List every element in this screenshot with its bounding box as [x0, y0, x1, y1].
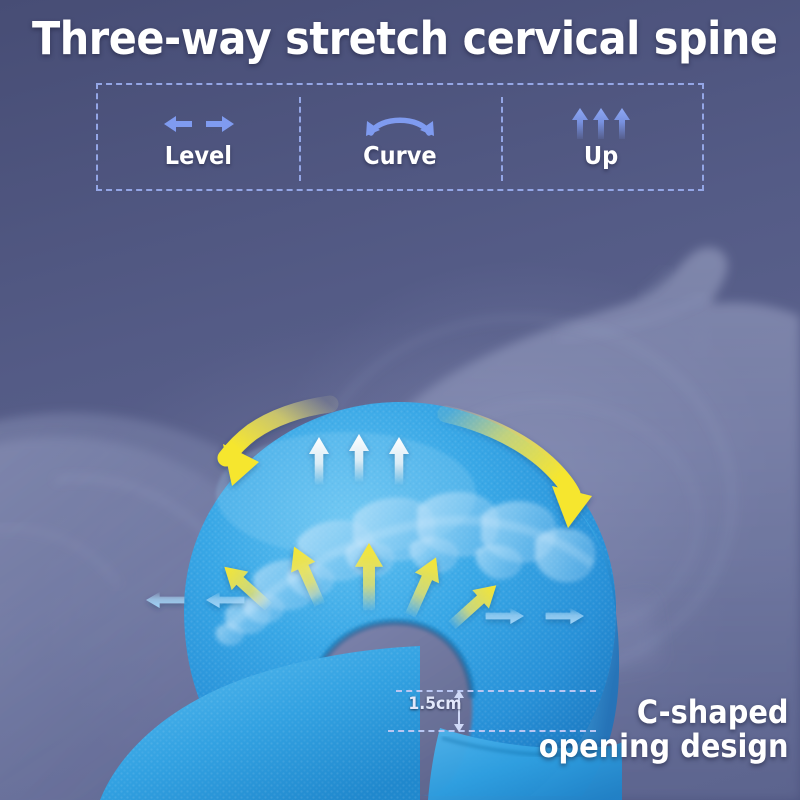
product-feature-image: 1.5cm Three-way stretch cervical spine L… — [0, 0, 800, 800]
badge-label-curve: Curve — [363, 143, 437, 168]
left-right-arrows-icon — [162, 107, 236, 141]
header-block: Three-way stretch cervical spine Level — [0, 0, 800, 200]
arc-double-arrow-icon — [360, 107, 440, 141]
badge-curve[interactable]: Curve — [299, 85, 500, 189]
badge-label-up: Up — [584, 143, 618, 168]
triple-up-arrows-icon — [571, 107, 631, 141]
page-title: Three-way stretch cervical spine — [32, 12, 768, 65]
pillow-bottom-left-extension — [0, 640, 420, 800]
caption-line-1: C-shaped — [538, 695, 788, 730]
dimension-dash-top — [396, 690, 596, 692]
dimension-label: 1.5cm — [408, 694, 461, 714]
caption-line-2: opening design — [538, 729, 788, 764]
caption-block: C-shaped opening design — [538, 695, 788, 764]
feature-badge-bar: Level Curve — [96, 83, 704, 191]
badge-level[interactable]: Level — [98, 85, 299, 189]
badge-up[interactable]: Up — [501, 85, 702, 189]
badge-label-level: Level — [165, 143, 232, 168]
